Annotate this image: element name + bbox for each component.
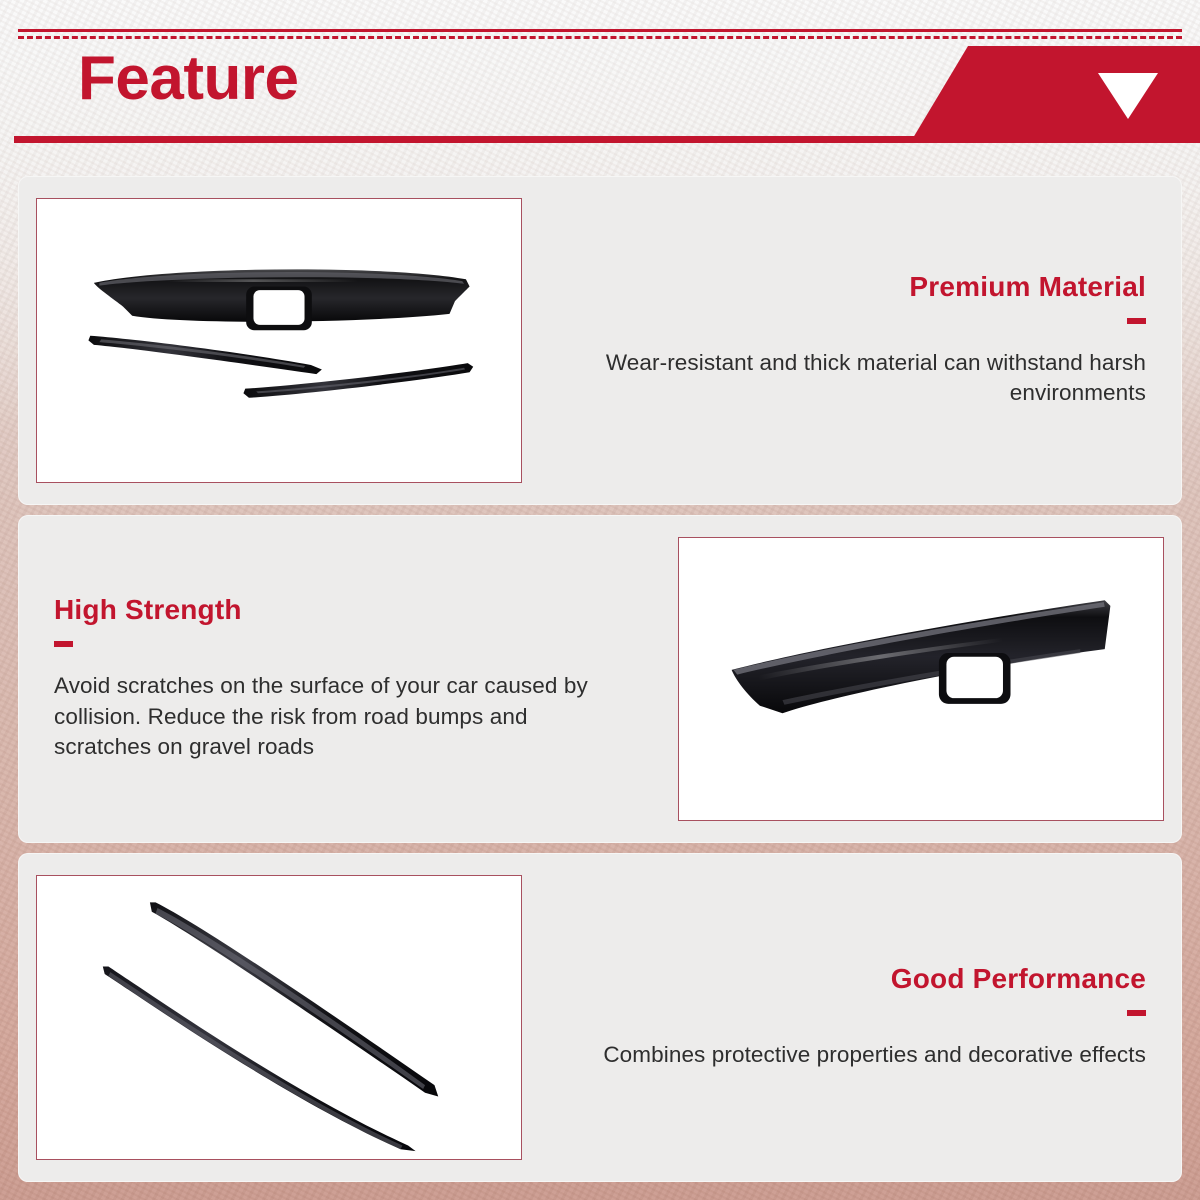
feature-divider-dash: [1127, 318, 1146, 324]
feature-divider-dash: [1127, 1010, 1146, 1016]
header-red-tag: [910, 46, 1200, 143]
feature-copy: Premium Material Wear-resistant and thic…: [540, 176, 1182, 505]
feature-panel-list: Premium Material Wear-resistant and thic…: [18, 176, 1182, 1182]
feature-copy: High Strength Avoid scratches on the sur…: [18, 515, 660, 844]
feature-title: High Strength: [54, 595, 242, 626]
grille-cover-and-two-trim-strips-photo: [36, 198, 522, 483]
feature-panel-high-strength: High Strength Avoid scratches on the sur…: [18, 515, 1182, 844]
page-title: Feature: [78, 48, 298, 110]
feature-panel-premium-material: Premium Material Wear-resistant and thic…: [18, 176, 1182, 505]
feature-divider-dash: [54, 641, 73, 647]
feature-title: Premium Material: [909, 272, 1146, 303]
page-header: Feature: [0, 0, 1200, 160]
feature-description: Wear-resistant and thick material can wi…: [570, 348, 1146, 409]
header-bottom-rule: [14, 136, 1200, 143]
feature-title: Good Performance: [891, 964, 1146, 995]
two-curved-trim-strips-photo: [36, 875, 522, 1160]
feature-description: Avoid scratches on the surface of your c…: [54, 671, 630, 763]
grille-cover-angled-view-photo: [678, 537, 1164, 822]
feature-description: Combines protective properties and decor…: [603, 1040, 1146, 1071]
feature-panel-good-performance: Good Performance Combines protective pro…: [18, 853, 1182, 1182]
feature-copy: Good Performance Combines protective pro…: [540, 853, 1182, 1182]
header-top-solid-rule: [18, 29, 1182, 32]
header-top-dashed-rule: [18, 36, 1182, 39]
